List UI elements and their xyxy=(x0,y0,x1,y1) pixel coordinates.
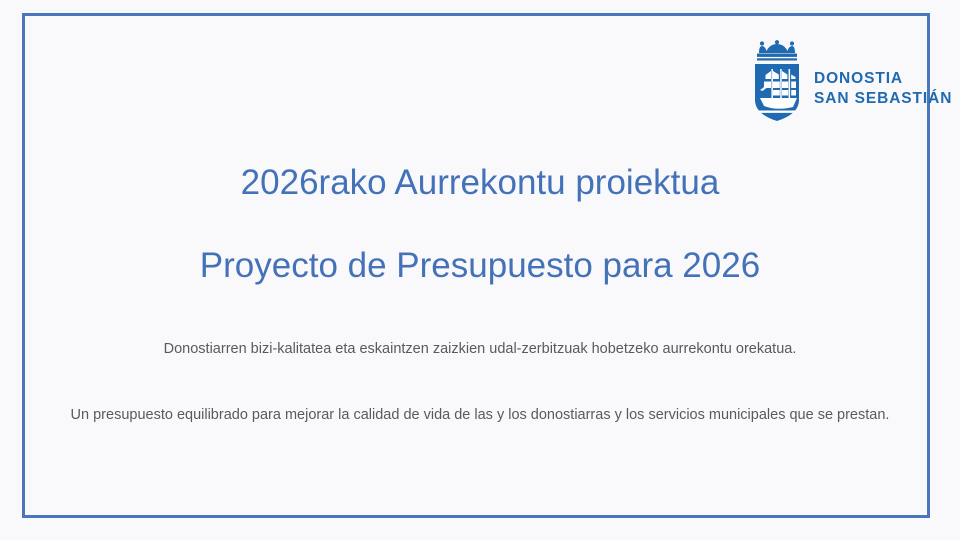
logo-wordmark-line2: SAN SEBASTIÁN xyxy=(814,89,952,109)
title-basque: 2026rako Aurrekontu proiektua xyxy=(0,160,960,206)
logo-wordmark: DONOSTIA SAN SEBASTIÁN xyxy=(814,53,952,109)
title-block: 2026rako Aurrekontu proiektua Proyecto d… xyxy=(0,160,960,289)
subtitle-spanish: Un presupuesto equilibrado para mejorar … xyxy=(70,400,890,430)
title-spanish: Proyecto de Presupuesto para 2026 xyxy=(0,243,960,289)
presentation-slide: DONOSTIA SAN SEBASTIÁN 2026rako Aurrekon… xyxy=(0,0,960,540)
donostia-logo: DONOSTIA SAN SEBASTIÁN xyxy=(748,38,952,124)
subtitle-basque: Donostiarren bizi-kalitatea eta eskaintz… xyxy=(80,338,880,360)
coat-of-arms-icon xyxy=(748,38,806,124)
logo-wordmark-line1: DONOSTIA xyxy=(814,69,952,89)
